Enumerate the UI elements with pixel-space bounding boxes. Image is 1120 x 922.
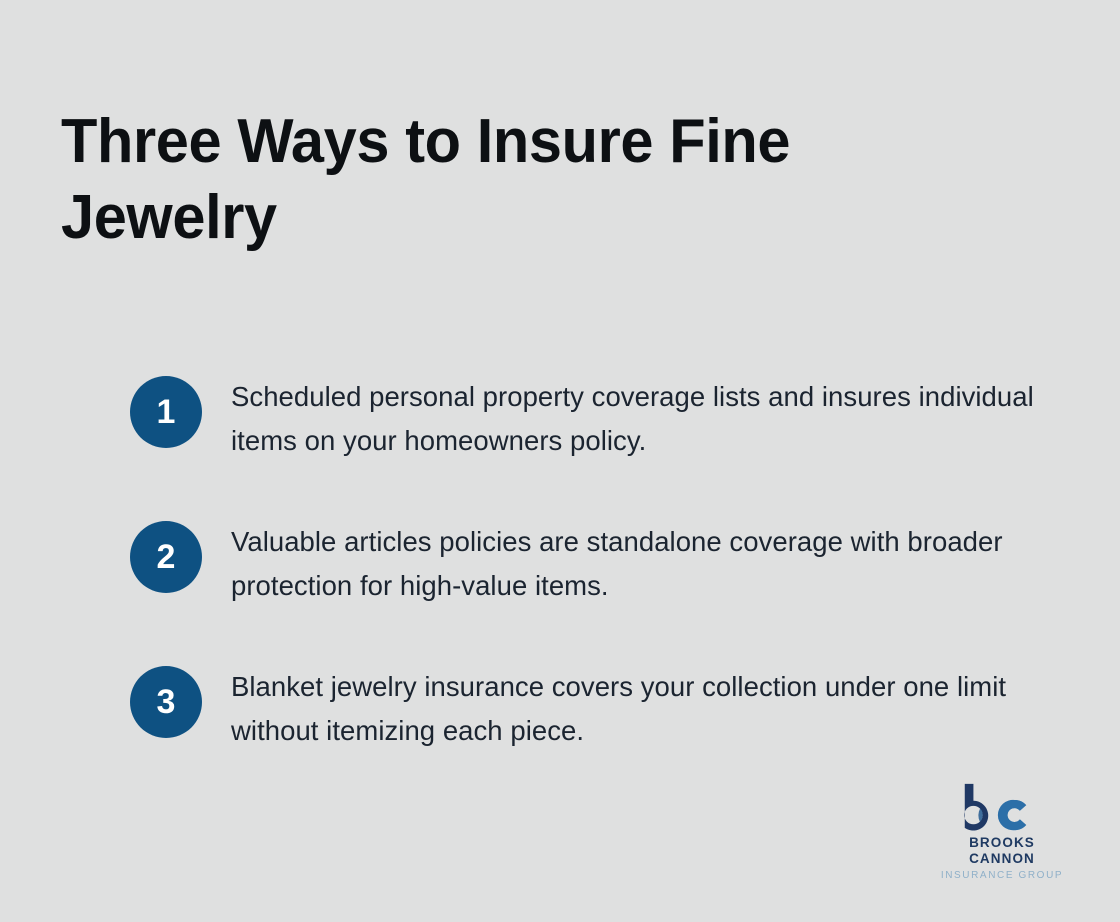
title-block: Three Ways to Insure Fine Jewelry — [61, 104, 921, 256]
list-item: 1 Scheduled personal property coverage l… — [130, 374, 1060, 463]
bc-monogram-icon — [959, 782, 1046, 832]
brand-logo: BROOKS CANNON INSURANCE GROUP — [938, 782, 1066, 882]
list-number-badge: 3 — [130, 666, 202, 738]
list-item-text: Blanket jewelry insurance covers your co… — [231, 664, 1047, 753]
logo-company-tagline: INSURANCE GROUP — [938, 869, 1066, 882]
list-item: 2 Valuable articles policies are standal… — [130, 519, 1060, 608]
list-number-badge: 2 — [130, 521, 202, 593]
logo-company-name: BROOKS CANNON — [938, 835, 1066, 867]
numbered-list: 1 Scheduled personal property coverage l… — [130, 374, 1060, 753]
list-item: 3 Blanket jewelry insurance covers your … — [130, 664, 1060, 753]
list-number-badge: 1 — [130, 376, 202, 448]
list-item-text: Valuable articles policies are standalon… — [231, 519, 1047, 608]
page-title: Three Ways to Insure Fine Jewelry — [61, 104, 887, 256]
list-item-text: Scheduled personal property coverage lis… — [231, 374, 1047, 463]
infographic-slide: Three Ways to Insure Fine Jewelry 1 Sche… — [0, 0, 1120, 922]
